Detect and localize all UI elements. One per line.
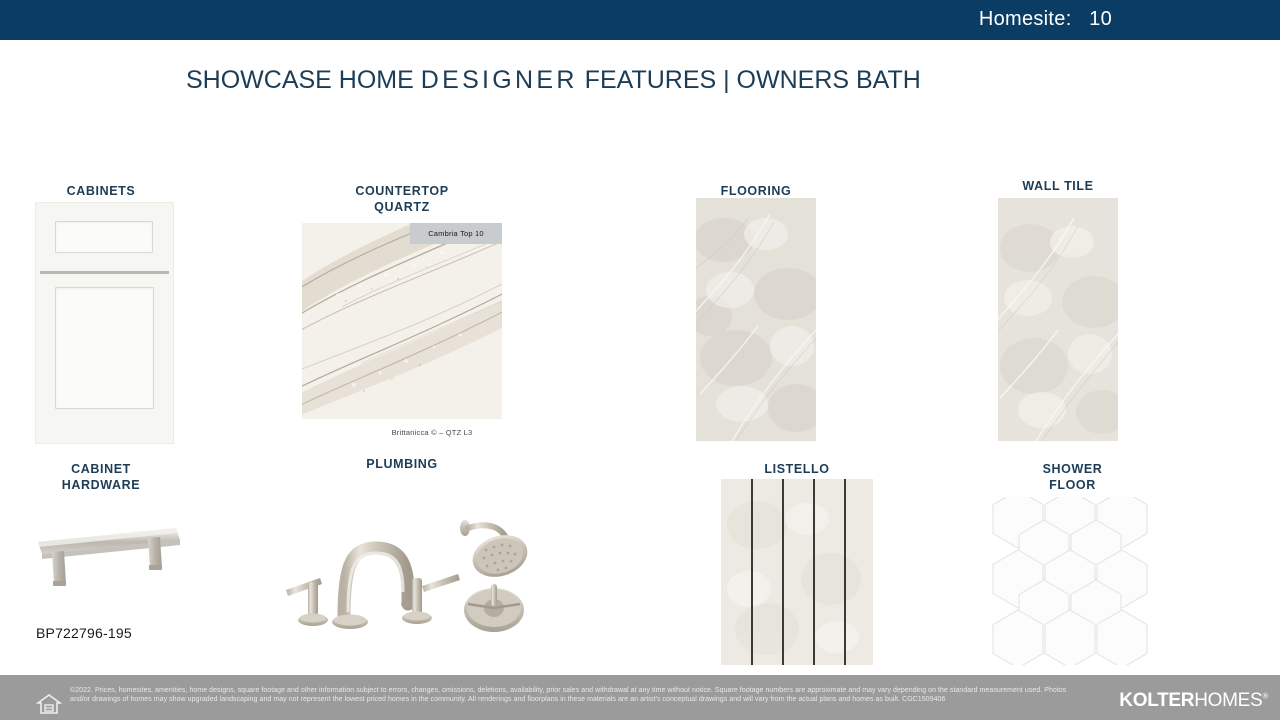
label-wall-tile: WALL TILE [998,178,1118,194]
cabinet-door-panel [55,287,154,409]
label-countertop: COUNTERTOP QUARTZ [337,183,467,215]
title-part-designer: DESIGNER [421,66,578,94]
cabinet-door-front [36,275,173,443]
quartz-veining-graphic [302,223,502,419]
brand-bold: KOLTER [1119,690,1194,711]
label-cabinets: CABINETS [36,183,166,199]
wall-tile-swatch [998,198,1118,441]
homesite-number: 10 [1089,8,1112,30]
homesite-indicator: Homesite: 10 [979,8,1112,31]
title-part-3: FEATURES | OWNERS BATH [578,66,921,94]
label-listello: LISTELLO [737,461,857,477]
cabinet-drawer-panel [55,221,153,253]
plumbing-fixtures-graphic [272,512,538,638]
equal-housing-opportunity-icon [36,692,62,716]
title-part-1: SHOWCASE HOME [186,66,421,94]
countertop-caption: Brittanicca © – QTZ L3 [352,428,512,437]
left-faucet-handle [286,578,328,626]
hexagon-mosaic-graphic [988,497,1153,665]
page-title: SHOWCASE HOME DESIGNER FEATURES | OWNERS… [186,66,921,95]
quartz-slab-swatch: Cambria Top 10 [302,223,502,419]
quartz-badge: Cambria Top 10 [410,223,502,244]
listello-tile-swatch [721,479,873,665]
label-shower-floor: SHOWER FLOOR [1010,461,1135,493]
shower-valve-trim [464,584,524,632]
bar-pull-graphic [30,518,190,602]
cabinet-drawer-front [36,203,173,270]
homesite-label: Homesite: [979,8,1072,30]
brand-light: HOMES [1194,690,1262,711]
floor-tile-texture [696,198,816,441]
label-cabinet-hardware: CABINET HARDWARE [36,461,166,493]
kolter-homes-logo: KOLTERHOMES® [1119,690,1268,712]
brand-mark: ® [1262,692,1268,701]
cabinet-hardware-sku: BP722796-195 [36,625,132,641]
shower-head [460,520,533,584]
floor-tile-swatch [696,198,816,441]
bar-pull-handle [30,518,190,602]
cabinet-door-swatch [36,203,173,443]
hexagon-mosaic-swatch [988,497,1153,665]
wall-tile-texture [998,198,1118,441]
listello-texture [721,479,873,665]
footer-disclaimer: ©2022. Prices, homesites, amenities, hom… [70,687,1080,704]
cabinet-reveal-line [40,271,169,274]
faucet-showerhead-valve [272,512,538,638]
label-plumbing: PLUMBING [337,456,467,472]
label-flooring: FLOORING [696,183,816,199]
